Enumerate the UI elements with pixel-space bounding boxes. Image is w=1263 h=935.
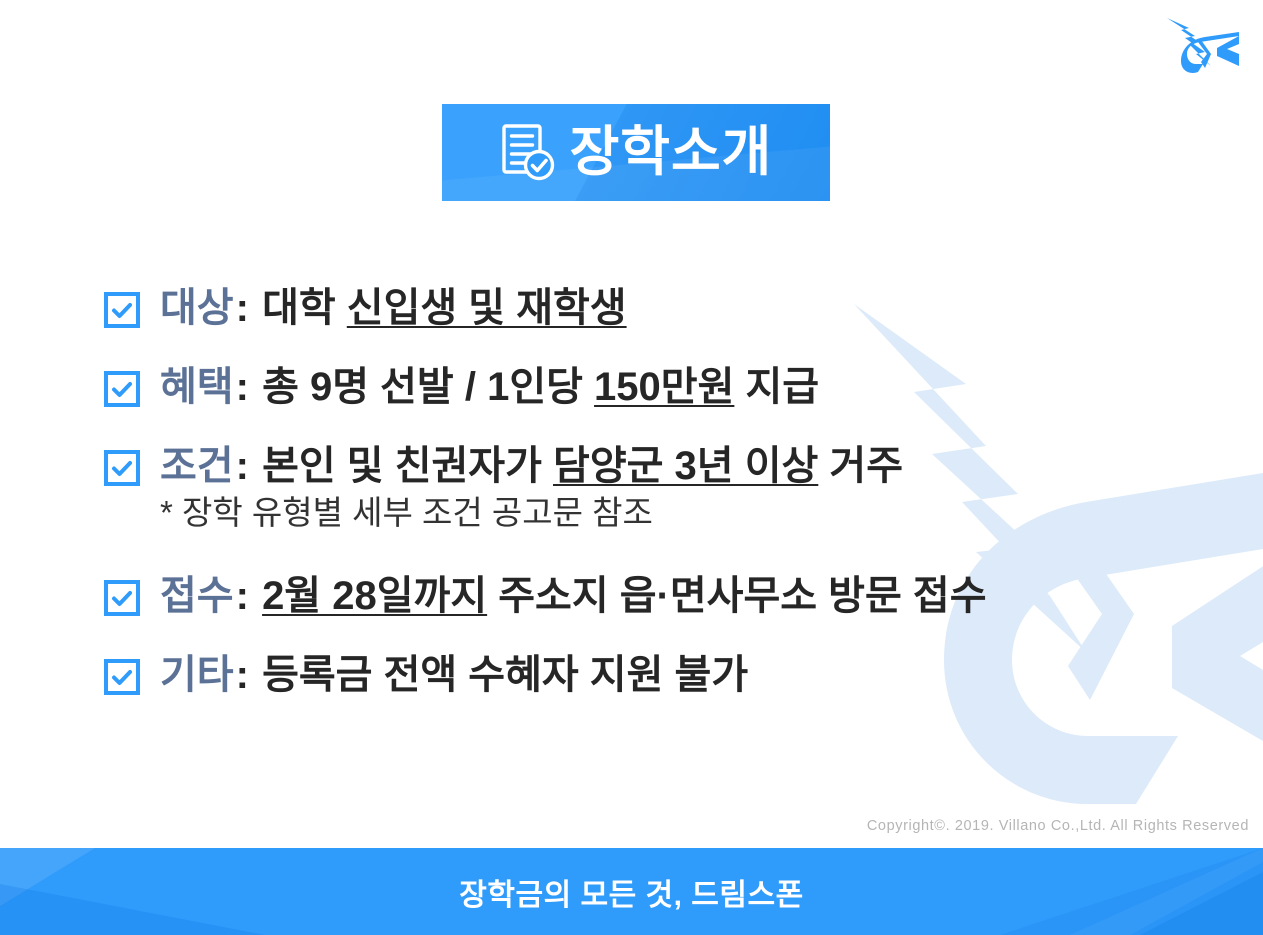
list-item-separator: : [234, 286, 251, 330]
checkbox-checked-icon [104, 659, 140, 695]
list-item: 혜택: 총 9명 선발 / 1인당 150만원 지급 [104, 365, 1134, 410]
list-item: 접수: 2월 28일까지 주소지 읍·면사무소 방문 접수 [104, 574, 1134, 619]
list-item-value-0: 본인 및 친권자가 [262, 444, 553, 488]
list-item-separator: : [234, 444, 251, 488]
subnote-row: * 장학 유형별 세부 조건 공고문 참조 [104, 486, 1134, 534]
list-item-value-1: 담양군 3년 이상 [553, 444, 818, 488]
list-item-separator: : [234, 574, 251, 618]
list-item-text: 대상: 대학 신입생 및 재학생 [160, 286, 627, 331]
list-item-value-2: 거주 [818, 444, 903, 488]
dreamspon-bird-logo [1165, 14, 1241, 76]
page-title: 장학소개 [570, 125, 773, 179]
subnote-text: * 장학 유형별 세부 조건 공고문 참조 [160, 494, 653, 531]
footer-bar: 장학금의 모든 것, 드림스폰 [0, 848, 1263, 935]
list-item-value-1: 주소지 읍·면사무소 방문 접수 [487, 574, 986, 618]
checkbox-checked-icon [104, 450, 140, 486]
list-item-separator: : [234, 653, 251, 697]
copyright-text: Copyright©. 2019. Villano Co.,Ltd. All R… [867, 818, 1249, 834]
scholarship-info-list: 대상: 대학 신입생 및 재학생 혜택: 총 9명 선발 / 1인당 150만원… [104, 286, 1134, 732]
footer-slogan: 장학금의 모든 것, 드림스폰 [0, 848, 1263, 935]
list-item-value-1: 150만원 [594, 365, 734, 409]
list-item: 기타: 등록금 전액 수혜자 지원 불가 [104, 653, 1134, 698]
list-item-label: 조건 [160, 444, 234, 488]
list-item-value-0: 2월 28일까지 [262, 574, 487, 618]
list-item-value-0: 대학 [262, 286, 347, 330]
list-item-value-0: 등록금 전액 수혜자 지원 불가 [262, 653, 748, 697]
document-check-icon [500, 123, 556, 181]
list-item-label: 기타 [160, 653, 234, 697]
list-item-label: 대상 [160, 286, 234, 330]
checkbox-checked-icon [104, 580, 140, 616]
list-item-value-0: 총 9명 선발 / 1인당 [262, 365, 594, 409]
checkbox-checked-icon [104, 371, 140, 407]
list-item-text: 조건: 본인 및 친권자가 담양군 3년 이상 거주 [160, 444, 903, 489]
title-banner: 장학소개 [442, 104, 830, 201]
list-item-label: 혜택 [160, 365, 234, 409]
list-item-text: 기타: 등록금 전액 수혜자 지원 불가 [160, 653, 748, 698]
list-item-label: 접수 [160, 574, 234, 618]
list-item-separator: : [234, 365, 251, 409]
slide-canvas: 장학소개 대상: 대학 신입생 및 재학생 혜택: 총 9명 선발 / 1인당 … [0, 0, 1263, 935]
list-item: 대상: 대학 신입생 및 재학생 [104, 286, 1134, 331]
list-item-value-2: 지급 [734, 365, 819, 409]
list-item-value-1: 신입생 및 재학생 [347, 286, 627, 330]
checkbox-checked-icon [104, 292, 140, 328]
list-item-text: 접수: 2월 28일까지 주소지 읍·면사무소 방문 접수 [160, 574, 987, 619]
list-item: 조건: 본인 및 친권자가 담양군 3년 이상 거주 [104, 444, 1134, 489]
list-item-text: 혜택: 총 9명 선발 / 1인당 150만원 지급 [160, 365, 819, 410]
